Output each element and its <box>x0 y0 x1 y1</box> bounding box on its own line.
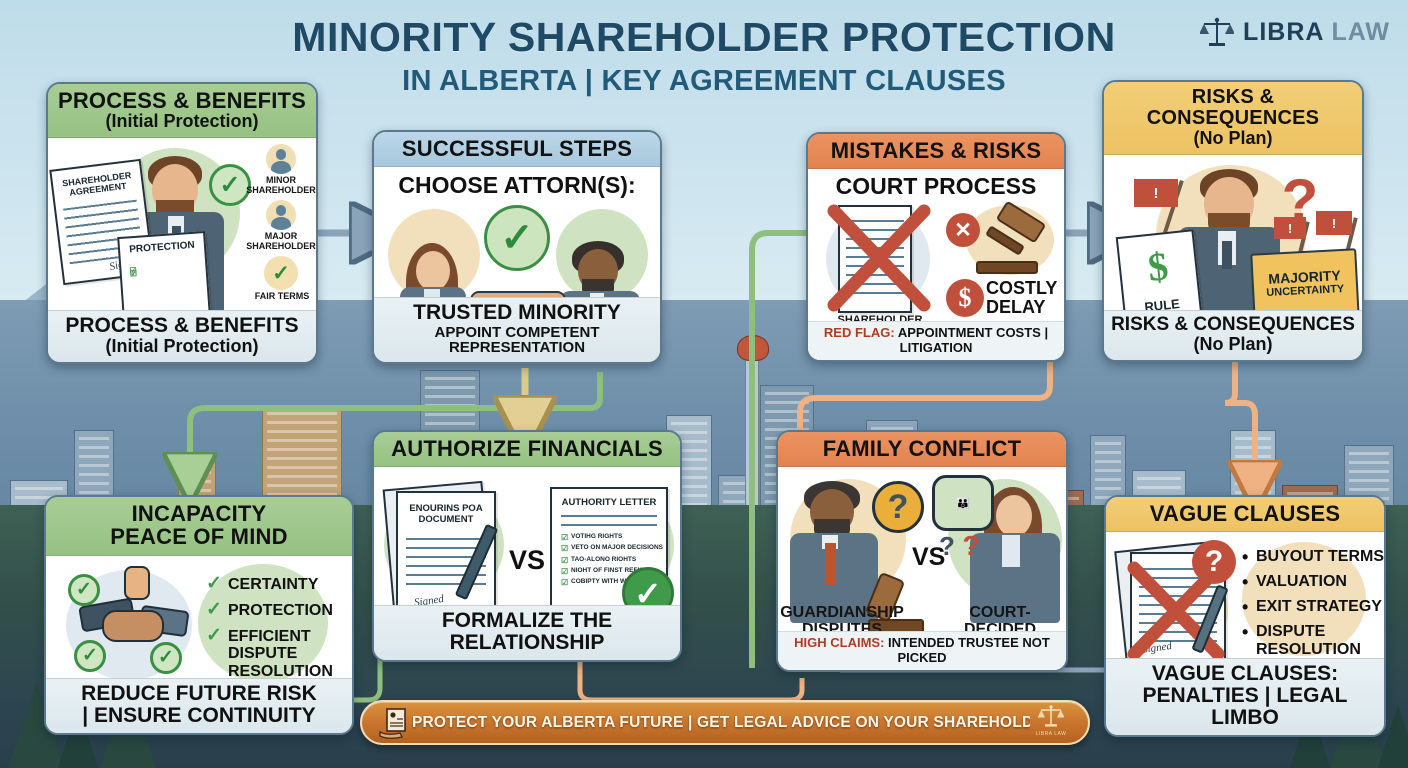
card-footer-line1: FORMALIZE THE RELATIONSHIP <box>378 610 676 654</box>
page-title-block: MINORITY SHAREHOLDER PROTECTION IN ALBER… <box>0 14 1408 98</box>
card-authorize-financials-footer: FORMALIZE THE RELATIONSHIP <box>374 605 680 660</box>
brand-text: LIBRA LAW <box>1243 18 1390 47</box>
majority-uncertainty-sign: MAJORITY UNCERTAINTY <box>1250 249 1360 310</box>
dollar-circle-icon: $ <box>946 279 984 317</box>
card-incapacity[interactable]: INCAPACITY PEACE OF MIND ✓ ✓ ✓ CERTAINTY… <box>44 495 354 735</box>
brand-libra: LIBRA <box>1243 18 1323 46</box>
card-authorize-financials[interactable]: AUTHORIZE FINANCIALS ENOURINS POA DOCUME… <box>372 430 682 662</box>
card-process-benefits-footer: PROCESS & BENEFITS (Initial Protection) <box>48 310 316 362</box>
page-subtitle: IN ALBERTA | KEY AGREEMENT CLAUSES <box>0 65 1408 98</box>
tick-item: EFFICIENT DISPUTE RESOLUTION <box>206 628 352 678</box>
card-family-conflict-flag: HIGH CLAIMS: INTENDED TRUSTEE NOT PICKED <box>778 631 1066 670</box>
card-mistakes-risks-illustration: COURT PROCESS SHAREHOLDER DISPUTE ✕ $ CO… <box>808 169 1064 321</box>
card-successful-steps[interactable]: SUCCESSFUL STEPS CHOOSE ATTORN(S): <box>372 130 662 364</box>
green-check-icon: ✓ <box>68 574 100 606</box>
card-incapacity-illustration: ✓ ✓ ✓ CERTAINTY PROTECTION EFFICIENT DIS… <box>46 556 352 678</box>
doc-title: SHAREHOLDER AGREEMENT <box>58 170 137 200</box>
handshake-icon <box>102 610 164 642</box>
document-in-hand-icon <box>378 706 412 740</box>
card-family-conflict[interactable]: FAMILY CONFLICT ? VS <box>776 430 1068 672</box>
card-risks-consequences[interactable]: RISKS & CONSEQUENCES (No Plan) ? ! ! ! <box>1102 80 1364 362</box>
minor-shareholder-avatar <box>266 144 296 174</box>
green-check-icon: ✓ <box>150 642 182 674</box>
caption-guardianship: GUARDIANSHIP DISPUTES <box>780 605 904 631</box>
protection-document: PROTECTION <box>117 231 211 310</box>
infographic-canvas: MINORITY SHAREHOLDER PROTECTION IN ALBER… <box>0 0 1408 768</box>
card-process-benefits[interactable]: PROCESS & BENEFITS (Initial Protection) … <box>46 82 318 364</box>
card-vague-clauses-header: VAGUE CLAUSES <box>1106 497 1384 532</box>
card-successful-steps-illustration: CHOOSE ATTORN(S): ✓ <box>374 167 660 297</box>
question-mark-icon: ? <box>936 531 958 561</box>
side-label-major: MAJOR SHAREHOLDER <box>244 232 316 251</box>
major-shareholder-avatar <box>266 200 296 230</box>
card-header-line1: FAMILY CONFLICT <box>784 437 1060 460</box>
thumbs-up-icon <box>124 566 150 600</box>
vs-label: VS <box>509 545 545 576</box>
card-risks-consequences-footer: RISKS & CONSEQUENCES (No Plan) <box>1104 310 1362 360</box>
cta-brand-caption: LIBRA LAW <box>1030 731 1072 737</box>
red-x-icon <box>824 201 934 315</box>
card-family-conflict-illustration: ? VS 👪 ? ? GUARDIANSHIP DISPUTES <box>778 467 1066 631</box>
flag-text: APPOINTMENT COSTS | LITIGATION <box>898 325 1048 354</box>
scales-of-justice-icon <box>1038 704 1064 728</box>
red-flag-icon: ! <box>1316 211 1352 235</box>
authority-item: TAO-ALONO RIOHTS <box>561 556 665 564</box>
card-footer-line1: VAGUE CLAUSES: <box>1110 663 1380 685</box>
side-label-fair-terms: FAIR TERMS <box>246 292 316 301</box>
card-footer-line2: (Initial Protection) <box>52 337 312 356</box>
green-check-icon: ✓ <box>484 205 550 271</box>
sign-label-rule: RULE <box>1125 294 1200 310</box>
cta-banner[interactable]: PROTECT YOUR ALBERTA FUTURE | GET LEGAL … <box>360 700 1090 745</box>
flag-text: INTENDED TRUSTEE NOT PICKED <box>888 635 1050 664</box>
gavel-base-icon <box>976 261 1038 274</box>
bullet-item: VALUATION <box>1242 573 1384 591</box>
green-check-icon: ✓ <box>74 640 106 672</box>
card-header-line2: PEACE OF MIND <box>52 525 346 548</box>
card-authorize-financials-illustration: ENOURINS POA DOCUMENT Signed VS AUTHORIT… <box>374 467 680 605</box>
card-body-heading: COURT PROCESS <box>808 169 1064 200</box>
card-vague-clauses-illustration: Signed ? HIDDEN OBLIGATIONS BUYOUT TERMS… <box>1106 532 1384 658</box>
card-footer-line2: | ENSURE CONTINUITY <box>50 705 348 727</box>
brand-law: LAW <box>1331 18 1390 46</box>
benefits-tick-list: CERTAINTY PROTECTION EFFICIENT DISPUTE R… <box>206 576 352 678</box>
red-flag-icon: ! <box>1274 217 1306 239</box>
question-bubble-icon: ? <box>1192 540 1236 584</box>
handshake-icon <box>470 291 566 297</box>
brand-logo: LIBRA LAW <box>1200 16 1390 48</box>
card-footer-line1: REDUCE FUTURE RISK <box>50 683 348 705</box>
card-header-line1: AUTHORIZE FINANCIALS <box>380 437 674 460</box>
card-header-line1: SUCCESSFUL STEPS <box>380 137 654 160</box>
card-vague-clauses[interactable]: VAGUE CLAUSES Signed ? HIDDEN OBLIGATION… <box>1104 495 1386 737</box>
vague-clause-bullets: BUYOUT TERMS VALUATION EXIT STRATEGY DIS… <box>1242 548 1384 658</box>
caption-delay: DELAY <box>986 298 1064 317</box>
fair-terms-check-icon: ✓ <box>264 256 298 290</box>
caption-shareholder-dispute: SHAREHOLDER DISPUTE <box>814 315 946 321</box>
dollar-rule-sign: $ RULE <box>1116 230 1203 311</box>
card-footer-line1: PROCESS & BENEFITS <box>52 315 312 337</box>
doc-title: AUTHORITY LETTER <box>559 498 659 509</box>
card-incapacity-header: INCAPACITY PEACE OF MIND <box>46 497 352 556</box>
question-bubble-icon: ? <box>872 481 924 533</box>
card-successful-steps-header: SUCCESSFUL STEPS <box>374 132 660 167</box>
page-title: MINORITY SHAREHOLDER PROTECTION <box>0 14 1408 61</box>
authority-item: VOTIHG RIGHTS <box>561 533 665 541</box>
caption-court-decided: COURT-DECIDED TRUSTEE <box>934 605 1066 631</box>
flag-tag: HIGH CLAIMS: <box>794 635 884 650</box>
card-footer-line2: PENALTIES | LEGAL LIMBO <box>1110 685 1380 729</box>
card-header-line1: INCAPACITY <box>52 502 346 525</box>
card-authorize-financials-header: AUTHORIZE FINANCIALS <box>374 432 680 467</box>
side-label-minor: MINOR SHAREHOLDER <box>244 176 316 195</box>
card-header-line1: VAGUE CLAUSES <box>1112 502 1378 525</box>
card-family-conflict-header: FAMILY CONFLICT <box>778 432 1066 467</box>
bullet-item: BUYOUT TERMS <box>1242 548 1384 566</box>
authority-item: VETO ON MAJOR DECISIONS <box>561 544 665 552</box>
card-footer-line2: (No Plan) <box>1108 335 1358 354</box>
scales-of-justice-icon <box>1200 16 1234 48</box>
card-body-heading: CHOOSE ATTORN(S): <box>374 167 660 199</box>
card-header-line2: (No Plan) <box>1110 129 1356 148</box>
card-mistakes-risks-flag: RED FLAG: APPOINTMENT COSTS | LITIGATION <box>808 321 1064 360</box>
card-process-benefits-illustration: SHAREHOLDER AGREEMENT Signed PROTECTION … <box>48 138 316 310</box>
card-mistakes-risks[interactable]: MISTAKES & RISKS COURT PROCESS SHAREHOLD… <box>806 132 1066 362</box>
bullet-item: DISPUTE RESOLUTION <box>1242 623 1384 658</box>
card-mistakes-risks-header: MISTAKES & RISKS <box>808 134 1064 169</box>
doc-title: PROTECTION <box>125 239 200 256</box>
card-successful-steps-footer: TRUSTED MINORITY APPOINT COMPETENT REPRE… <box>374 297 660 362</box>
card-footer-line2: APPOINT COMPETENT REPRESENTATION <box>378 325 656 357</box>
family-bubble-icon: 👪 <box>932 475 994 531</box>
question-mark-icon: ? <box>960 531 982 561</box>
tick-item: CERTAINTY <box>206 576 352 593</box>
bullet-item: EXIT STRATEGY <box>1242 598 1384 616</box>
red-flag-icon: ! <box>1134 179 1178 207</box>
card-footer-line1: RISKS & CONSEQUENCES <box>1108 315 1358 335</box>
card-risks-consequences-illustration: ? ! ! ! $ RULE MAJORITY UNCERTAINTY <box>1104 155 1362 310</box>
tick-item: PROTECTION <box>206 602 352 619</box>
caption-costly: COSTLY <box>986 279 1064 298</box>
doc-title: ENOURINS POA DOCUMENT <box>404 504 489 526</box>
cta-text: PROTECT YOUR ALBERTA FUTURE | GET LEGAL … <box>412 714 1030 732</box>
card-vague-clauses-footer: VAGUE CLAUSES: PENALTIES | LEGAL LIMBO <box>1106 658 1384 735</box>
flag-tag: RED FLAG: <box>824 325 895 340</box>
cta-brand-logo: LIBRA LAW <box>1030 704 1072 742</box>
card-incapacity-footer: REDUCE FUTURE RISK | ENSURE CONTINUITY <box>46 678 352 733</box>
card-header-line2: (Initial Protection) <box>54 112 310 131</box>
card-header-line1: MISTAKES & RISKS <box>814 139 1058 162</box>
card-footer-line1: TRUSTED MINORITY <box>378 302 656 324</box>
